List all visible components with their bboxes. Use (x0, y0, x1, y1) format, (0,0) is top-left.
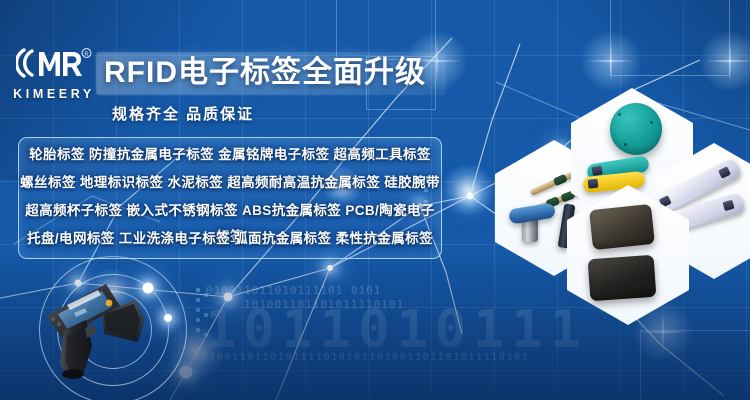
black-rect-tag (588, 255, 657, 302)
page-subtitle: 规格齐全 品质保证 (112, 103, 254, 124)
teal-disc-tag (610, 103, 662, 155)
signal-glow-node (164, 314, 172, 322)
product-list-row: 超高频杯子标签 嵌入式不锈钢标签 ABS抗金属标签 PCB/陶瓷电子标签 (19, 198, 441, 224)
logo-wordmark: KIMEERY (8, 87, 100, 101)
dark-rect-tag (589, 204, 655, 250)
logo-mark-kmr: R (8, 46, 100, 86)
page-title: RFID电子标签全面升级 (104, 51, 426, 95)
product-list-panel: 轮胎标签 防撞抗金属电子标签 金属铭牌电子标签 超高频工具标签 螺丝标签 地理标… (18, 137, 442, 259)
rfid-handheld-reader (40, 272, 165, 382)
product-list-row: 螺丝标签 地理标识标签 水泥标签 超高频耐高温抗金属标签 硅胶腕带 (19, 170, 441, 196)
banner-root: 010011011010111101 0101 1010011011010111… (0, 0, 750, 400)
product-list-row: 轮胎标签 防撞抗金属电子标签 金属铭牌电子标签 超高频工具标签 (19, 142, 441, 168)
glow-orb (442, 164, 494, 216)
product-list-row: 托盘/电网标签 工业洗涤电子标签 弧面抗金属标签 柔性抗金属标签 (19, 226, 441, 252)
brand-logo[interactable]: R KIMEERY (8, 46, 100, 101)
svg-text:R: R (84, 52, 89, 58)
